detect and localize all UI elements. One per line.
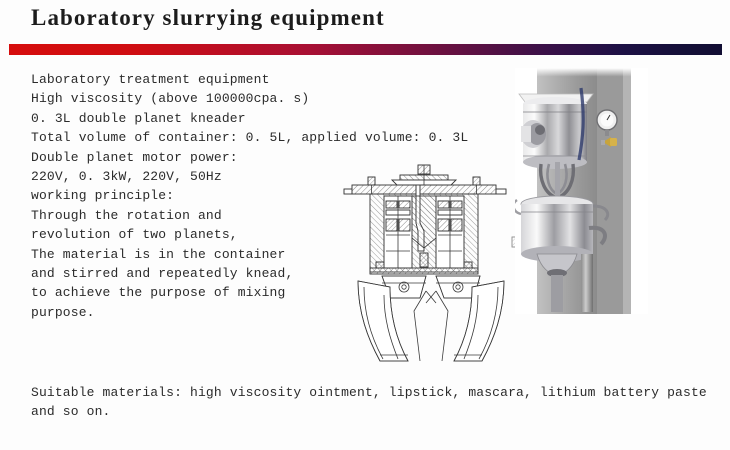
product-photo-image: [515, 68, 648, 314]
spec-line: 220V, 0. 3kW, 220V, 50Hz: [31, 167, 361, 186]
spec-line: Through the rotation and: [31, 206, 361, 225]
spec-line: revolution of two planets,: [31, 225, 361, 244]
product-description-page: Laboratory slurrying equipment Laborator…: [0, 0, 730, 450]
spec-line: purpose.: [31, 303, 361, 322]
spec-line: working principle:: [31, 186, 361, 205]
suitable-materials-note: Suitable materials: high viscosity ointm…: [31, 383, 711, 422]
spec-line: 0. 3L double planet kneader: [31, 109, 361, 128]
spec-line: Total volume of container: 0. 5L, applie…: [31, 128, 361, 147]
spec-line: to achieve the purpose of mixing: [31, 283, 361, 302]
spec-line: Double planet motor power:: [31, 148, 361, 167]
spec-line: Laboratory treatment equipment: [31, 70, 361, 89]
note-line: and so on.: [31, 402, 711, 421]
technical-drawing-image: [340, 163, 522, 363]
header-gradient-divider: [9, 44, 722, 55]
spec-line: The material is in the container: [31, 245, 361, 264]
page-title: Laboratory slurrying equipment: [31, 5, 385, 31]
spec-line: and stirred and repeatedly knead,: [31, 264, 361, 283]
note-line: Suitable materials: high viscosity ointm…: [31, 383, 711, 402]
spec-line: High viscosity (above 100000cpa. s): [31, 89, 361, 108]
specification-text-block: Laboratory treatment equipment High visc…: [31, 70, 361, 322]
